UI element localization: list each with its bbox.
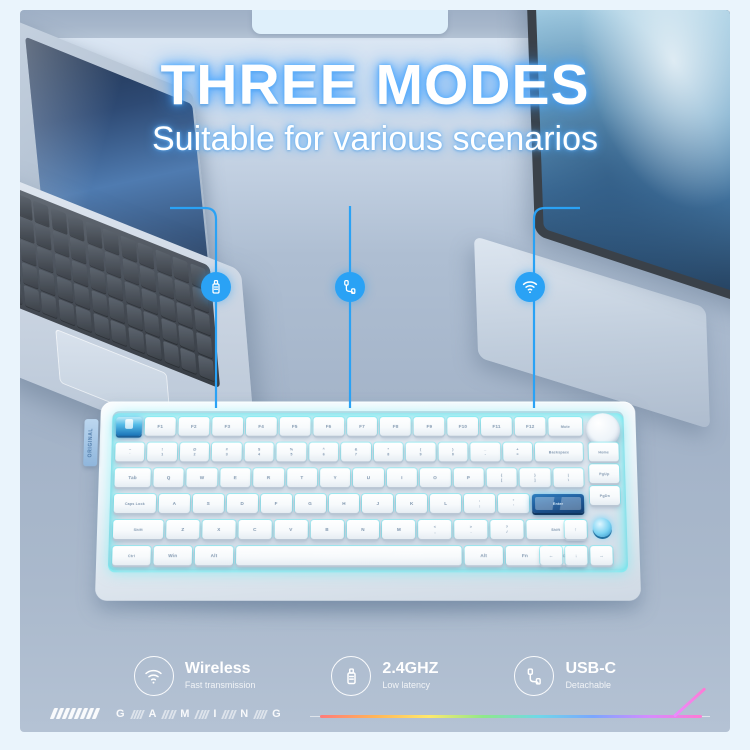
keyboard-nav-column[interactable]: HomePgUpPgDn [589, 443, 621, 505]
key-arrow-right[interactable]: → [590, 546, 613, 565]
key-f4[interactable]: F4 [246, 417, 277, 436]
key-x[interactable]: X [202, 520, 235, 539]
key-g[interactable]: G [295, 494, 326, 513]
key-h[interactable]: H [328, 494, 359, 513]
page-subtitle: Suitable for various scenarios [20, 120, 730, 159]
keyboard-row-qwerty[interactable]: TabQWERTYUIOP{[}]|\ [114, 468, 583, 487]
key--[interactable]: ~` [115, 443, 145, 462]
key-f12[interactable]: F12 [515, 417, 546, 436]
key-esc[interactable]: Esc [116, 417, 142, 436]
feature-text: 2.4GHZLow latency [382, 660, 438, 691]
key--5[interactable]: %5 [277, 443, 306, 462]
key-j[interactable]: J [362, 494, 393, 513]
top-notch [252, 10, 448, 34]
feature-title: Wireless [185, 660, 256, 678]
key-f8[interactable]: F8 [380, 417, 411, 436]
key--0[interactable]: )0 [438, 443, 467, 462]
key-pgup[interactable]: PgUp [589, 464, 619, 483]
key--[interactable]: |\ [553, 468, 584, 487]
page-title: THREE MODES [20, 52, 730, 118]
key--[interactable]: :; [464, 494, 495, 513]
key--2[interactable]: @2 [180, 443, 210, 462]
key--[interactable]: {[ [486, 468, 517, 487]
footer-letter: A [148, 708, 157, 720]
key-z[interactable]: Z [166, 520, 199, 539]
key-t[interactable]: T [287, 468, 317, 487]
key-f11[interactable]: F11 [481, 417, 512, 436]
key-arrow-left[interactable]: ← [540, 546, 563, 565]
key-r[interactable]: R [253, 468, 284, 487]
feature-subtitle: Detachable [565, 680, 616, 692]
footer-slashes [52, 708, 98, 719]
promo-image: THREE MODES Suitable for various scenari… [0, 0, 750, 750]
key-y[interactable]: Y [320, 468, 350, 487]
key-home[interactable]: Home [589, 443, 619, 462]
footer-hatch [196, 710, 207, 719]
footer-hatch [132, 710, 143, 719]
usb-cable-badge[interactable] [335, 272, 365, 302]
key-s[interactable]: S [193, 494, 224, 513]
wifi-icon [521, 278, 539, 296]
key--[interactable]: >. [454, 520, 487, 539]
scene: THREE MODES Suitable for various scenari… [20, 10, 730, 732]
feature-subtitle: Fast transmission [185, 680, 256, 692]
keyboard-row-shift[interactable]: ShiftZXCVBNM<,>.?/Shift [113, 520, 585, 539]
feature-2-4ghz: 2.4GHZLow latency [331, 656, 438, 696]
usb-cable-icon [341, 278, 359, 296]
key-w[interactable]: W [187, 468, 218, 487]
feature-text: USB-CDetachable [565, 660, 616, 691]
original-side-tag: ORIGINAL [83, 419, 98, 466]
key--3[interactable]: #3 [212, 443, 242, 462]
feature-title: 2.4GHZ [382, 660, 438, 678]
key-pgdn[interactable]: PgDn [590, 486, 621, 505]
key-v[interactable]: V [274, 520, 307, 539]
feature-usb-c: USB-CDetachable [514, 656, 616, 696]
key--7[interactable]: &7 [341, 443, 370, 462]
key-i[interactable]: I [387, 468, 417, 487]
key--8[interactable]: *8 [374, 443, 403, 462]
feature-title: USB-C [565, 660, 616, 678]
key-f3[interactable]: F3 [212, 417, 243, 436]
usb-dongle-badge[interactable] [201, 272, 231, 302]
key--[interactable]: <, [418, 520, 451, 539]
footer-hatch [223, 710, 234, 719]
keyboard-row-function[interactable]: EscF1F2F3F4F5F6F7F8F9F10F11F12Mute [116, 417, 583, 436]
key-p[interactable]: P [453, 468, 484, 487]
key-fn[interactable]: Fn [506, 546, 545, 565]
key-arrow-down[interactable]: ↓ [565, 546, 588, 565]
key-accent-round[interactable] [592, 518, 612, 537]
rainbow-gradient-line [320, 715, 702, 718]
feature-wireless: WirelessFast transmission [134, 656, 256, 696]
key--[interactable]: += [503, 443, 533, 462]
key-enter[interactable]: Enter [532, 494, 584, 513]
keyboard[interactable]: ORIGINAL EscF1F2F3F4F5F6F7F8F9F10F11F12M… [98, 400, 638, 615]
key-a[interactable]: A [159, 494, 190, 513]
wifi-badge[interactable] [515, 272, 545, 302]
key-n[interactable]: N [346, 520, 379, 539]
key--1[interactable]: !1 [147, 443, 177, 462]
key--6[interactable]: ^6 [309, 443, 338, 462]
key--[interactable]: ?/ [490, 520, 523, 539]
key-f5[interactable]: F5 [279, 417, 310, 436]
key-blank[interactable] [236, 546, 462, 565]
key-k[interactable]: K [396, 494, 427, 513]
footer-letter: N [240, 708, 249, 720]
key-backspace[interactable]: Backspace [535, 443, 583, 462]
key-shift[interactable]: Shift [113, 520, 164, 539]
key--[interactable]: "' [498, 494, 529, 513]
key-e[interactable]: E [220, 468, 251, 487]
key-u[interactable]: U [353, 468, 383, 487]
keyboard-case: ORIGINAL EscF1F2F3F4F5F6F7F8F9F10F11F12M… [95, 402, 641, 601]
key-f9[interactable]: F9 [414, 417, 445, 436]
key-arrow-up[interactable]: ↑ [564, 520, 587, 539]
footer-letter: I [213, 708, 217, 720]
usb-cable-icon [524, 666, 545, 687]
footer-hatch [163, 710, 174, 719]
volume-knob[interactable] [586, 413, 621, 446]
enter-key-artwork [535, 497, 581, 510]
wifi-icon [143, 666, 164, 687]
key-f7[interactable]: F7 [347, 417, 378, 436]
key-f6[interactable]: F6 [313, 417, 344, 436]
usb-dongle-icon [341, 666, 362, 687]
footer-letter: G [116, 708, 126, 720]
key-q[interactable]: Q [153, 468, 184, 487]
key-caps-lock[interactable]: Caps Lock [114, 494, 157, 513]
keyboard-row-bottom[interactable]: CtrlWinAltAltFnCtrl [112, 546, 586, 565]
key--4[interactable]: $4 [244, 443, 274, 462]
feature-text: WirelessFast transmission [185, 660, 256, 691]
key-o[interactable]: O [420, 468, 450, 487]
usb-dongle-icon-circle [331, 656, 371, 696]
key-m[interactable]: M [382, 520, 415, 539]
key--9[interactable]: (9 [406, 443, 435, 462]
usb-cable-icon-circle [514, 656, 554, 696]
key-win[interactable]: Win [153, 546, 192, 565]
key--[interactable]: _- [470, 443, 500, 462]
key-alt[interactable]: Alt [195, 546, 234, 565]
gaming-footer-bar: GAMING [20, 692, 730, 732]
key-tab[interactable]: Tab [114, 468, 150, 487]
feature-subtitle: Low latency [382, 680, 438, 692]
key-f10[interactable]: F10 [448, 417, 479, 436]
footer-letter: G [272, 708, 282, 720]
key-alt[interactable]: Alt [465, 546, 503, 565]
key-l[interactable]: L [430, 494, 461, 513]
footer-gaming-word: GAMING [116, 708, 282, 720]
key-f1[interactable]: F1 [145, 417, 176, 436]
usb-dongle-icon [207, 278, 225, 296]
wifi-icon-circle [134, 656, 174, 696]
key-f[interactable]: F [261, 494, 292, 513]
key--[interactable]: }] [520, 468, 551, 487]
keyboard-row-number[interactable]: ~`!1@2#3$4%5^6&7*8(9)0_-+=Backspace [115, 443, 583, 462]
key-d[interactable]: D [227, 494, 258, 513]
key-c[interactable]: C [238, 520, 271, 539]
key-b[interactable]: B [310, 520, 343, 539]
keyboard-row-home[interactable]: Caps LockASDFGHJKL:;"'Enter [114, 494, 585, 513]
footer-hatch [255, 710, 266, 719]
rainbow-diagonal-tip [673, 687, 706, 717]
original-tag-label: ORIGINAL [87, 428, 94, 458]
key-f2[interactable]: F2 [178, 417, 209, 436]
key-mute[interactable]: Mute [548, 417, 582, 436]
key-ctrl[interactable]: Ctrl [112, 546, 151, 565]
footer-letter: M [180, 708, 190, 720]
